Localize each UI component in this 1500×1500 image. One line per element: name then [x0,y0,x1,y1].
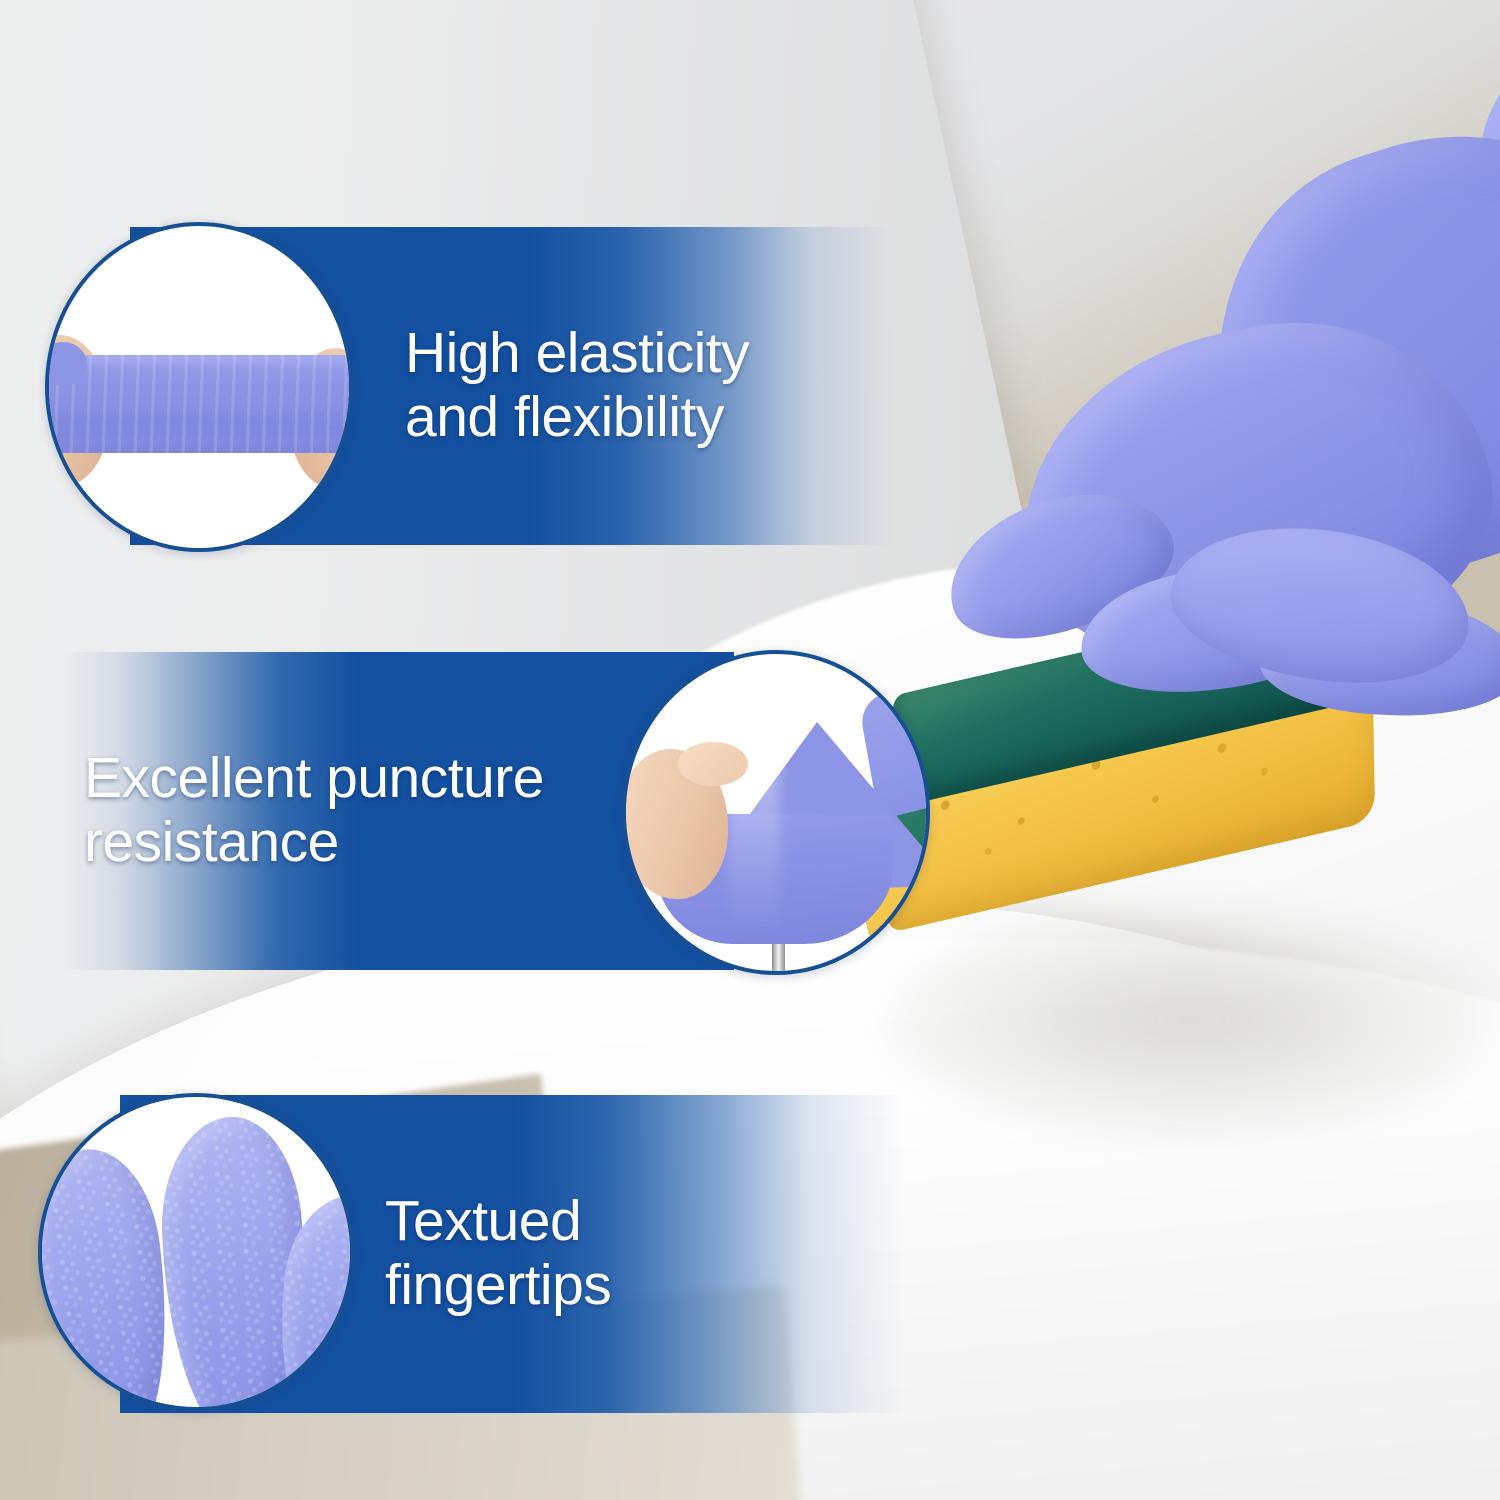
bare-fingertip [678,742,748,786]
gloved-hand [960,200,1500,760]
feature-label-textured-fingertips: Textued fingertips [385,1190,611,1318]
feature-inset-circle-high-elasticity [45,222,353,552]
stretched-glove-band [45,355,353,453]
feature-inset-circle-puncture-resistance [622,650,930,975]
inset-photo-textured-fingertips [42,1097,350,1407]
textured-fingertip [38,1142,184,1411]
inset-photo-stretched-glove [49,226,349,548]
feature-label-high-elasticity: High elasticity and flexibility [405,322,749,450]
infographic-root: High elasticity and flexibility Excellen… [0,0,1500,1500]
feature-label-puncture-resistance: Excellent puncture resistance [84,747,544,875]
inset-photo-glove-cone [626,654,926,971]
feature-inset-circle-textured-fingertips [38,1093,354,1411]
